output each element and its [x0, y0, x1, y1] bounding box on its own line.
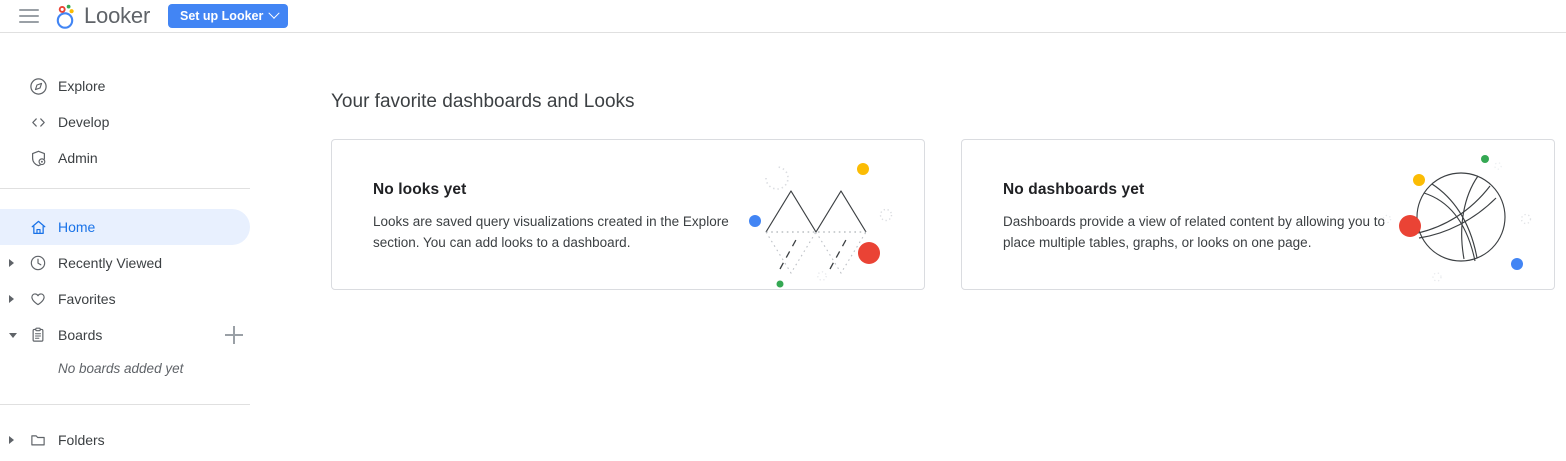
- empty-dashboards-card: No dashboards yet Dashboards provide a v…: [961, 139, 1555, 290]
- looker-brand[interactable]: Looker: [53, 2, 150, 30]
- home-icon: [28, 217, 48, 237]
- sidebar-item-explore[interactable]: Explore: [0, 68, 250, 104]
- caret-right-icon[interactable]: [9, 259, 14, 267]
- caret-right-icon[interactable]: [9, 295, 14, 303]
- main-content: Your favorite dashboards and Looks No lo…: [252, 33, 1566, 461]
- heart-icon: [28, 289, 48, 309]
- empty-looks-title: No looks yet: [373, 181, 466, 199]
- compass-icon: [28, 76, 48, 96]
- top-bar: Looker Set up Looker: [0, 0, 1566, 32]
- sidebar-item-explore-label: Explore: [58, 68, 105, 104]
- hamburger-menu-icon[interactable]: [19, 8, 39, 24]
- sidebar-item-favorites-label: Favorites: [58, 281, 116, 317]
- sidebar-item-admin-label: Admin: [58, 140, 98, 176]
- sidebar-item-folders-label: Folders: [58, 422, 105, 458]
- empty-looks-body: Looks are saved query visualizations cre…: [373, 211, 773, 253]
- sidebar-item-boards-label: Boards: [58, 317, 102, 353]
- sidebar: Explore Develop Admin: [0, 33, 252, 461]
- sphere-globe-illustration: [1374, 140, 1554, 290]
- add-board-plus-icon[interactable]: [225, 326, 243, 344]
- page-title: Your favorite dashboards and Looks: [331, 91, 635, 113]
- chevron-down-icon: [269, 8, 280, 19]
- sidebar-divider-bottom: [0, 404, 250, 405]
- code-brackets-icon: [28, 112, 48, 132]
- mountain-peaks-illustration: [744, 140, 924, 290]
- sidebar-item-recently-viewed[interactable]: Recently Viewed: [0, 245, 250, 281]
- clock-icon: [28, 253, 48, 273]
- clipboard-icon: [28, 325, 48, 345]
- sidebar-item-favorites[interactable]: Favorites: [0, 281, 250, 317]
- shield-gear-icon: [28, 148, 48, 168]
- sidebar-item-home[interactable]: Home: [0, 209, 250, 245]
- looker-logo-icon: [53, 2, 79, 30]
- sidebar-item-folders[interactable]: Folders: [0, 422, 250, 458]
- empty-dashboards-body: Dashboards provide a view of related con…: [1003, 211, 1403, 253]
- setup-looker-button[interactable]: Set up Looker: [168, 4, 288, 28]
- hamburger-bar-3: [19, 21, 39, 23]
- caret-down-icon[interactable]: [9, 333, 17, 338]
- caret-right-icon[interactable]: [9, 436, 14, 444]
- sidebar-item-recently-viewed-label: Recently Viewed: [58, 245, 162, 281]
- sidebar-item-develop-label: Develop: [58, 104, 109, 140]
- hamburger-bar-2: [19, 15, 39, 17]
- sidebar-item-admin[interactable]: Admin: [0, 140, 250, 176]
- hamburger-bar-1: [19, 9, 39, 11]
- empty-dashboards-title: No dashboards yet: [1003, 181, 1144, 199]
- sidebar-item-home-label: Home: [58, 209, 95, 245]
- empty-looks-card: No looks yet Looks are saved query visua…: [331, 139, 925, 290]
- boards-empty-text: No boards added yet: [58, 361, 183, 376]
- sidebar-item-boards[interactable]: Boards: [0, 317, 250, 353]
- setup-looker-label: Set up Looker: [180, 9, 263, 23]
- sidebar-item-develop[interactable]: Develop: [0, 104, 250, 140]
- sidebar-divider-top: [0, 188, 250, 189]
- brand-name: Looker: [84, 2, 150, 30]
- folder-icon: [28, 430, 48, 450]
